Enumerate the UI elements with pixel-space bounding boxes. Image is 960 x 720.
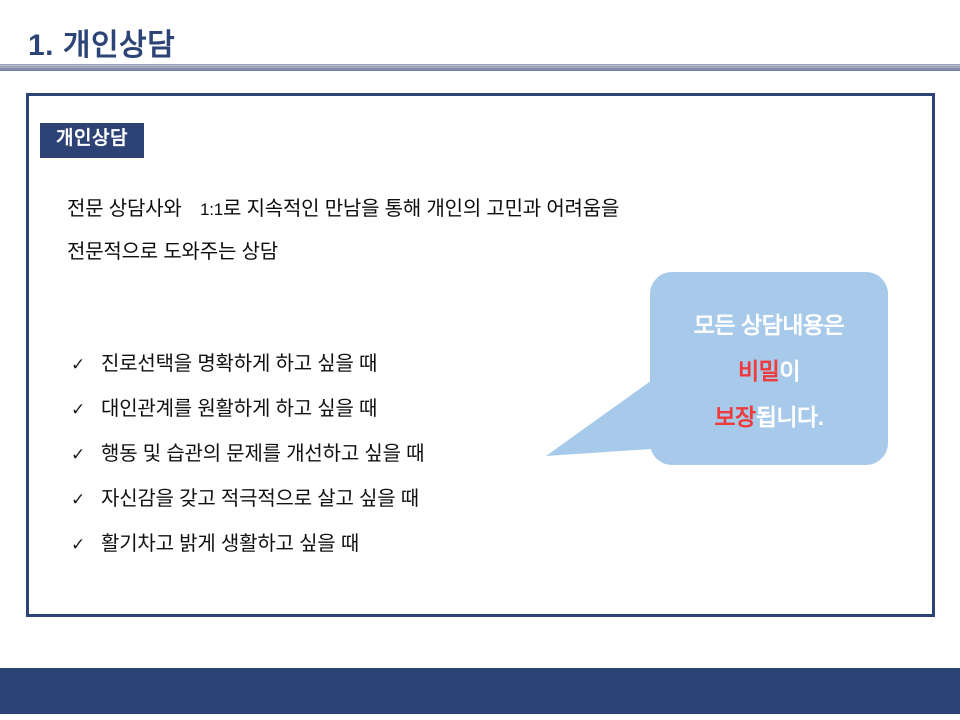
speech-bubble-tail-icon bbox=[546, 370, 666, 460]
callout-line-3-rest: 됩니다. bbox=[756, 404, 824, 430]
list-item-label: 자신감을 갖고 적극적으로 살고 싶을 때 bbox=[101, 477, 419, 521]
description-line1-before: 전문 상담사와ㅤ bbox=[67, 198, 200, 220]
check-icon: ✓ bbox=[71, 388, 101, 432]
callout-line-2: 비밀이 bbox=[738, 348, 800, 394]
check-icon: ✓ bbox=[71, 478, 101, 522]
list-item: ✓ 진로선택을 명확하게 하고 싶을 때 bbox=[71, 342, 424, 387]
list-item: ✓ 행동 및 습관의 문제를 개선하고 싶을 때 bbox=[71, 432, 424, 477]
callout-line-1: 모든 상담내용은 bbox=[694, 302, 845, 348]
title-divider bbox=[0, 64, 960, 71]
speech-bubble-body: 모든 상담내용은 비밀이 보장됩니다. bbox=[650, 272, 888, 465]
section-badge: 개인상담 bbox=[40, 123, 144, 158]
checklist: ✓ 진로선택을 명확하게 하고 싶을 때 ✓ 대인관계를 원활하게 하고 싶을 … bbox=[71, 342, 424, 567]
check-icon: ✓ bbox=[71, 343, 101, 387]
description-ratio: 1:1 bbox=[200, 200, 223, 219]
check-icon: ✓ bbox=[71, 433, 101, 477]
page-title: 1. 개인상담 bbox=[28, 20, 175, 64]
list-item: ✓ 자신감을 갖고 적극적으로 살고 싶을 때 bbox=[71, 477, 424, 522]
description-line1-after: 로 지속적인 만남을 통해 개인의 고민과 어려움을 bbox=[223, 198, 619, 220]
description-line2: 전문적으로 도와주는 상담 bbox=[67, 241, 278, 263]
callout-line-2-rest: 이 bbox=[779, 358, 800, 384]
list-item: ✓ 대인관계를 원활하게 하고 싶을 때 bbox=[71, 387, 424, 432]
list-item-label: 활기차고 밝게 생활하고 싶을 때 bbox=[101, 522, 359, 566]
speech-bubble-callout: 모든 상담내용은 비밀이 보장됩니다. bbox=[650, 272, 888, 465]
footer-bar bbox=[0, 668, 960, 714]
callout-highlight-guarantee: 보장 bbox=[714, 404, 755, 430]
list-item-label: 행동 및 습관의 문제를 개선하고 싶을 때 bbox=[101, 432, 424, 476]
list-item: ✓ 활기차고 밝게 생활하고 싶을 때 bbox=[71, 522, 424, 567]
callout-highlight-secret: 비밀 bbox=[738, 358, 779, 384]
callout-line-3: 보장됩니다. bbox=[714, 394, 823, 440]
description-paragraph: 전문 상담사와ㅤ1:1로 지속적인 만남을 통해 개인의 고민과 어려움을 전문… bbox=[67, 188, 787, 274]
list-item-label: 진로선택을 명확하게 하고 싶을 때 bbox=[101, 342, 377, 386]
list-item-label: 대인관계를 원활하게 하고 싶을 때 bbox=[101, 387, 377, 431]
check-icon: ✓ bbox=[71, 523, 101, 567]
